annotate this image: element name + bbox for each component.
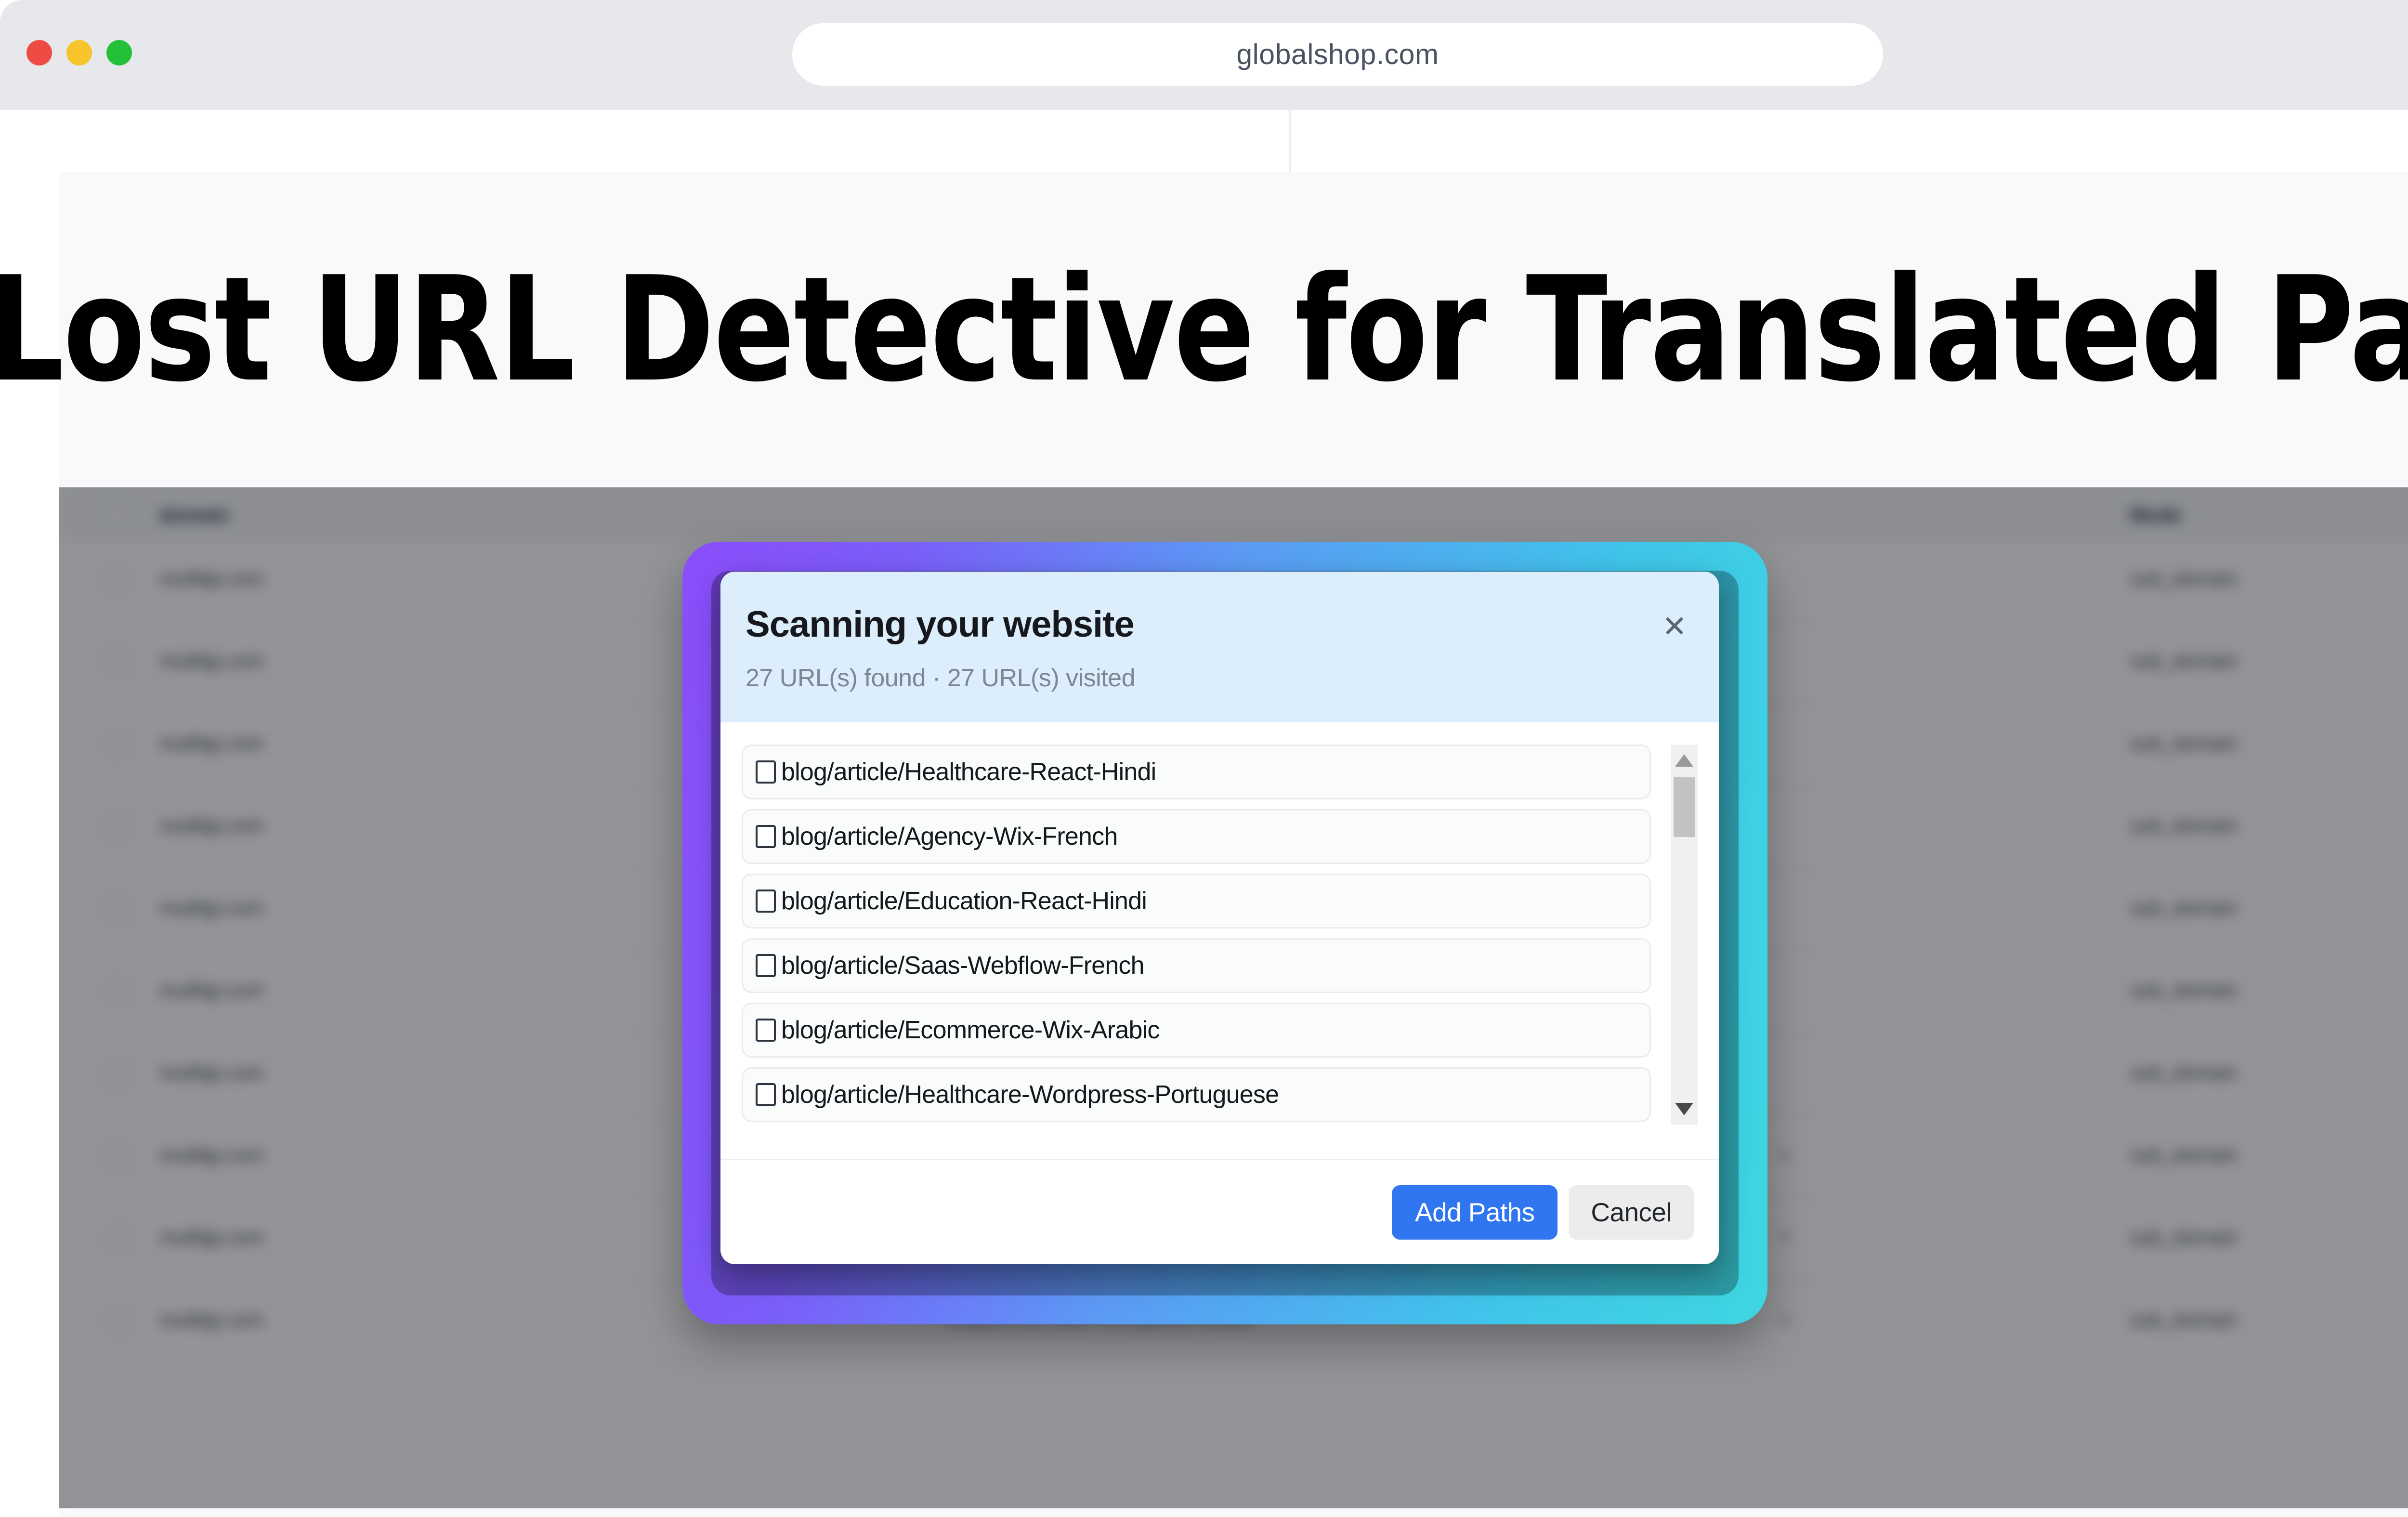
page-content: Lost URL Detective for Translated Pages … xyxy=(0,110,2408,1517)
traffic-lights xyxy=(26,40,132,65)
browser-chrome: globalshop.com xyxy=(0,0,2408,110)
list-item[interactable]: blog/article/Healthcare-React-Hindi xyxy=(742,745,1651,799)
close-icon[interactable]: ✕ xyxy=(1658,611,1691,645)
scroll-up-arrow-icon[interactable] xyxy=(1674,752,1694,769)
list-item[interactable]: blog/article/Healthcare-Wordpress-Portug… xyxy=(742,1067,1651,1122)
list-item[interactable]: blog/article/Ecommerce-Wix-Arabic xyxy=(742,1003,1651,1058)
url-label: blog/article/Healthcare-React-Hindi xyxy=(781,758,1156,786)
minimize-window-button[interactable] xyxy=(66,40,92,65)
url-list-scrollbar[interactable] xyxy=(1671,745,1698,1125)
modal-header: Scanning your website 27 URL(s) found · … xyxy=(720,572,1719,722)
url-label: blog/article/Ecommerce-Wix-Arabic xyxy=(781,1016,1160,1045)
page-bottom-strip xyxy=(59,1508,2408,1517)
url-label: blog/article/Healthcare-Wordpress-Portug… xyxy=(781,1080,1279,1109)
url-label: blog/article/Agency-Wix-French xyxy=(781,822,1117,851)
modal-body: blog/article/Healthcare-React-Hindi blog… xyxy=(720,722,1719,1159)
close-window-button[interactable] xyxy=(26,40,52,65)
url-checkbox[interactable] xyxy=(756,825,776,848)
scroll-down-arrow-icon[interactable] xyxy=(1674,1101,1694,1117)
url-label: blog/article/Education-React-Hindi xyxy=(781,887,1147,915)
url-label: blog/article/Saas-Webflow-French xyxy=(781,951,1144,980)
modal-subtitle: 27 URL(s) found · 27 URL(s) visited xyxy=(746,664,1719,693)
add-paths-button[interactable]: Add Paths xyxy=(1392,1185,1557,1240)
address-bar[interactable]: globalshop.com xyxy=(792,23,1883,86)
scrollbar-thumb[interactable] xyxy=(1674,777,1695,837)
modal-title: Scanning your website xyxy=(746,606,1719,643)
url-checkbox[interactable] xyxy=(756,760,776,784)
list-item[interactable]: blog/article/Agency-Wix-French xyxy=(742,809,1651,864)
list-item[interactable]: blog/article/Saas-Webflow-French xyxy=(742,938,1651,993)
browser-window: globalshop.com Lost URL Detective for Tr… xyxy=(0,0,2408,1517)
modal-footer: Add Paths Cancel xyxy=(720,1159,1719,1264)
url-checkbox[interactable] xyxy=(756,889,776,913)
headline-band: Lost URL Detective for Translated Pages xyxy=(59,172,2408,487)
url-list[interactable]: blog/article/Healthcare-React-Hindi blog… xyxy=(742,745,1651,1125)
list-item[interactable]: blog/article/Education-React-Hindi xyxy=(742,874,1651,929)
cancel-button[interactable]: Cancel xyxy=(1569,1185,1694,1240)
url-checkbox[interactable] xyxy=(756,1019,776,1042)
page-title: Lost URL Detective for Translated Pages xyxy=(0,258,2408,402)
url-checkbox[interactable] xyxy=(756,954,776,977)
scanning-modal: Scanning your website 27 URL(s) found · … xyxy=(720,572,1719,1264)
url-checkbox[interactable] xyxy=(756,1083,776,1106)
address-bar-text: globalshop.com xyxy=(1236,38,1439,71)
maximize-window-button[interactable] xyxy=(106,40,132,65)
